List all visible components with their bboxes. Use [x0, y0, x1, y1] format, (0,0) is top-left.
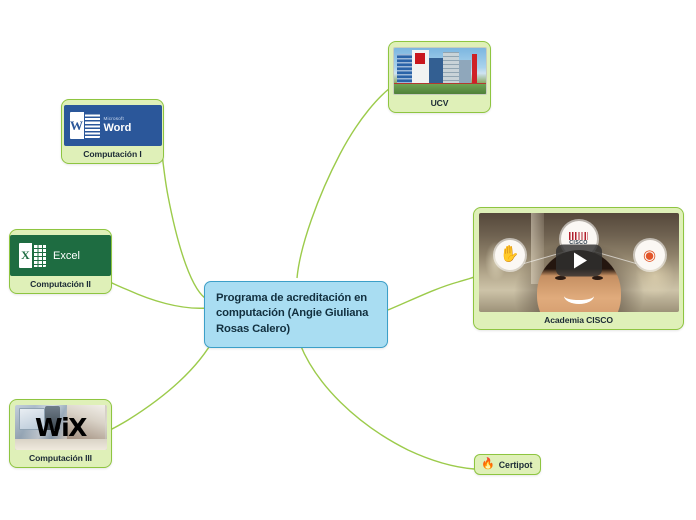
node-ucv[interactable]: UCV: [388, 41, 491, 113]
excel-document-icon: X: [19, 243, 46, 268]
edge-to-computacion2: [110, 282, 207, 308]
node-ucv-label: UCV: [431, 98, 449, 108]
video-person-smile: [564, 288, 594, 304]
cisco-video-thumbnail[interactable]: CISCO ✋ ◉: [479, 213, 679, 312]
edge-to-cisco: [388, 277, 474, 310]
excel-grid-icon: [33, 244, 46, 267]
campus-banner-red: [415, 53, 425, 64]
excel-product-label: Excel: [53, 250, 80, 262]
central-node-text: Programa de acreditación en computación …: [216, 291, 376, 337]
campus-building-4-windows: [443, 52, 459, 85]
cisco-bars-icon: [569, 232, 588, 240]
campus-flag: [472, 54, 477, 85]
word-product-label: Word: [104, 123, 132, 134]
node-academia-cisco[interactable]: CISCO ✋ ◉ Academia CISCO: [473, 207, 684, 330]
excel-logo-thumbnail[interactable]: X Excel: [10, 235, 111, 276]
word-document-icon: W: [70, 112, 100, 139]
video-person-eye-left: [555, 276, 566, 280]
word-text-lines-icon: [85, 113, 100, 138]
edge-to-certipot: [300, 344, 474, 469]
cisco-hand-circle: ✋: [495, 240, 525, 270]
word-letter: W: [70, 112, 84, 139]
campus-building-3: [429, 58, 443, 85]
flame-icon: 🔥: [481, 459, 495, 470]
node-computacion-1[interactable]: W Microsoft Word Computación I: [61, 99, 164, 164]
edge-to-computacion1: [160, 138, 208, 300]
wix-wordmark: WiX: [15, 405, 107, 450]
campus-building-5: [459, 60, 471, 85]
edge-to-computacion3: [110, 337, 215, 430]
node-computacion-3[interactable]: WiX Computación III: [9, 399, 112, 468]
cisco-brain-circle: ◉: [635, 240, 665, 270]
play-triangle-icon: [574, 252, 587, 268]
node-computacion-1-label: Computación I: [83, 149, 141, 159]
head-idea-icon: ◉: [643, 248, 656, 263]
campus-lawn: [394, 84, 486, 94]
central-node[interactable]: Programa de acreditación en computación …: [204, 281, 388, 348]
mindmap-canvas: Programa de acreditación en computación …: [0, 0, 696, 520]
node-computacion-3-label: Computación III: [29, 453, 92, 463]
wix-photo-thumbnail[interactable]: WiX: [15, 405, 107, 450]
word-wordmark: Microsoft Word: [104, 117, 132, 134]
edge-to-ucv: [297, 88, 390, 278]
excel-letter: X: [19, 243, 32, 268]
node-computacion-2-label: Computación II: [30, 279, 91, 289]
node-academia-cisco-label: Academia CISCO: [544, 315, 613, 325]
play-button[interactable]: [556, 244, 602, 276]
word-logo-thumbnail[interactable]: W Microsoft Word: [64, 105, 162, 146]
node-certipot[interactable]: 🔥 Certipot: [474, 454, 541, 475]
campus-building-1-windows: [397, 54, 412, 85]
ucv-campus-thumbnail[interactable]: [393, 47, 487, 95]
node-certipot-label: Certipot: [499, 460, 533, 470]
node-computacion-2[interactable]: X Excel Computación II: [9, 229, 112, 294]
video-person-eye-right: [592, 276, 603, 280]
hand-icon: ✋: [500, 247, 520, 263]
